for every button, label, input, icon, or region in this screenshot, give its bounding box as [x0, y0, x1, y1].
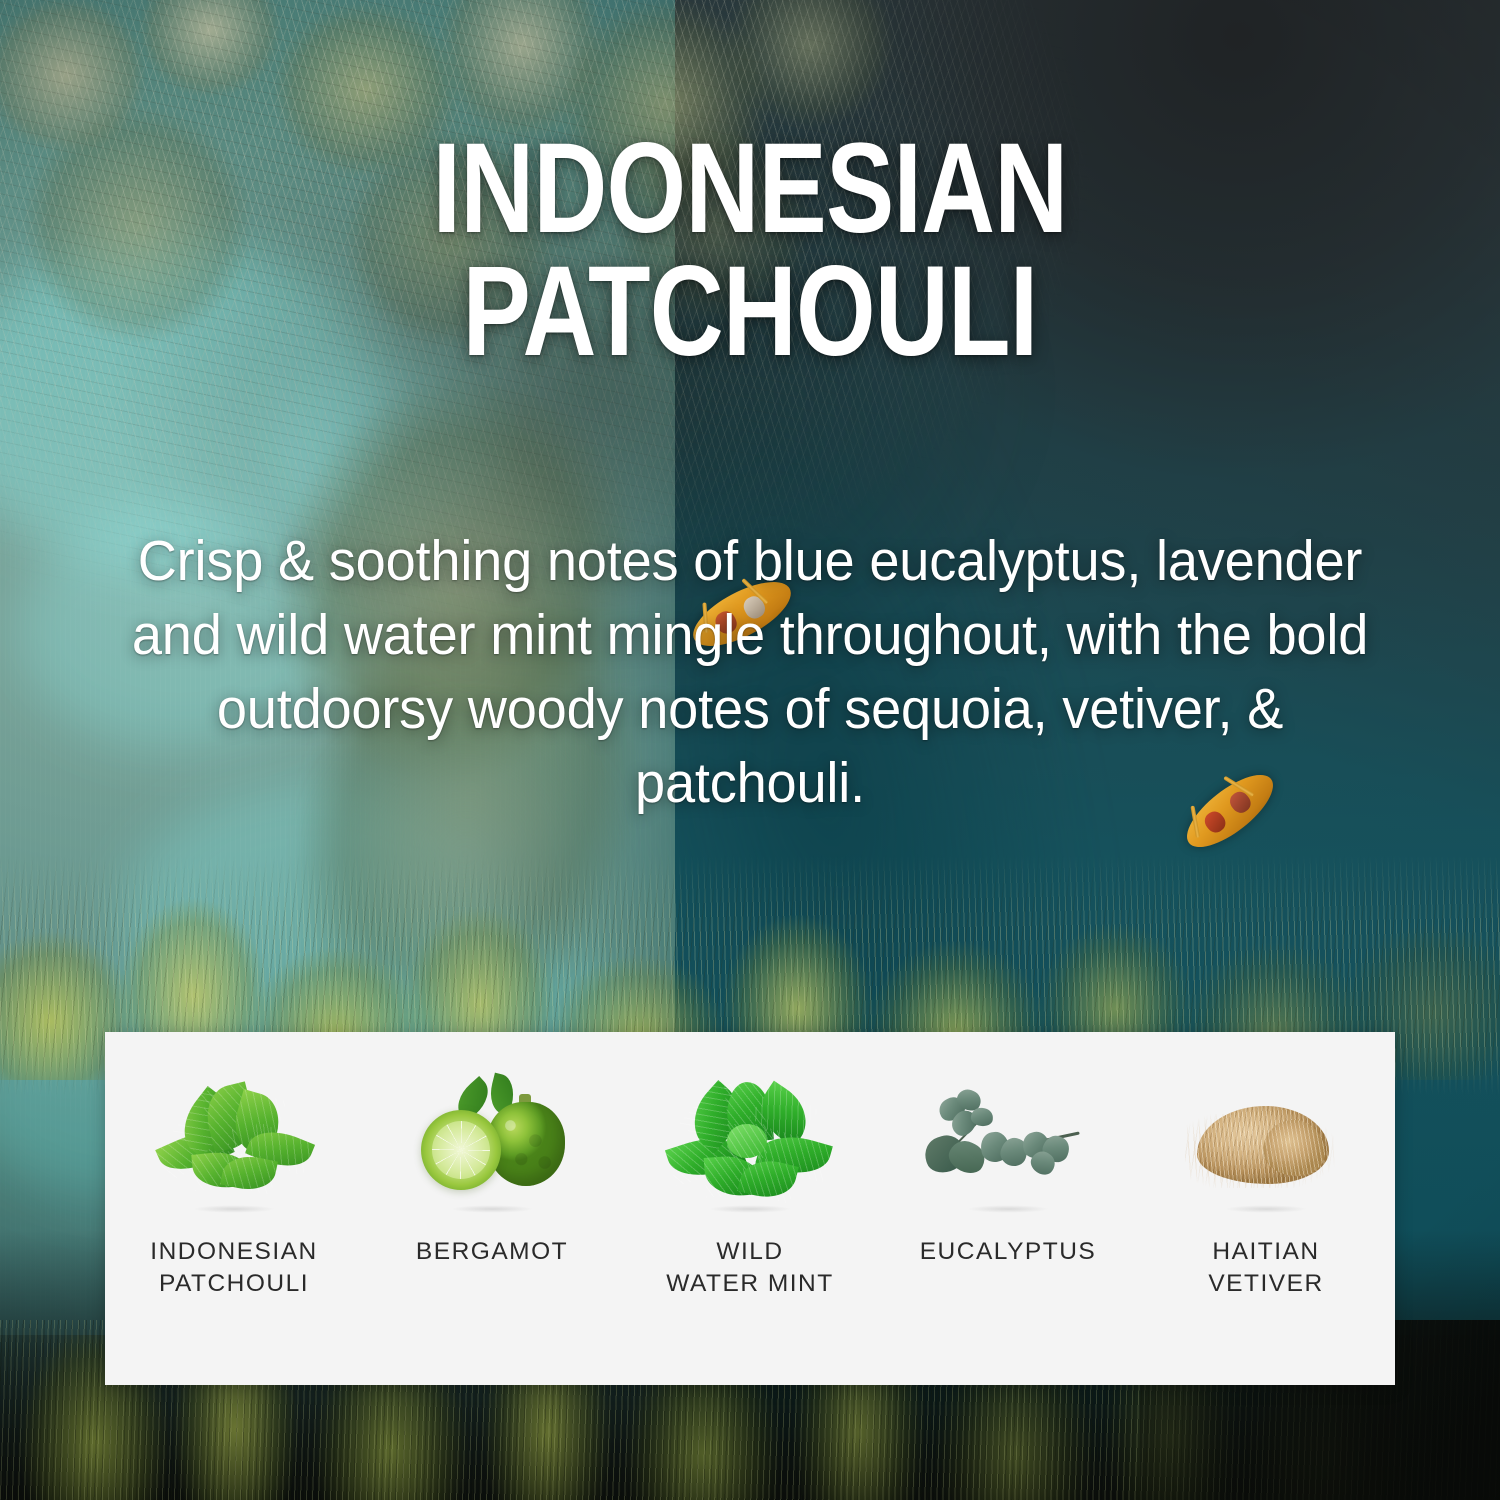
scent-description: Crisp & soothing notes of blue eucalyptu…	[129, 524, 1372, 820]
ingredient-item-eucalyptus: EUCALYPTUS	[879, 1032, 1137, 1385]
mint-leaves-icon	[665, 1080, 835, 1210]
ingredient-label: BERGAMOT	[416, 1236, 568, 1268]
ingredient-item-haitian-vetiver: HAITIAN VETIVER	[1137, 1032, 1395, 1385]
ingredient-label: HAITIAN VETIVER	[1208, 1236, 1323, 1300]
page-title: INDONESIAN PATCHOULI	[150, 128, 1350, 374]
ingredient-item-patchouli: INDONESIAN PATCHOULI	[105, 1032, 363, 1385]
ingredient-item-wild-water-mint: WILD WATER MINT	[621, 1032, 879, 1385]
vetiver-roots-icon	[1181, 1080, 1351, 1210]
bergamot-citrus-icon	[407, 1080, 577, 1210]
ingredient-label: WILD WATER MINT	[666, 1236, 833, 1300]
product-scent-card: INDONESIAN PATCHOULI Crisp & soothing no…	[0, 0, 1500, 1500]
ingredient-label: EUCALYPTUS	[920, 1236, 1097, 1268]
ingredient-notes-panel: INDONESIAN PATCHOULI BERGAMOT WILD WATER…	[105, 1032, 1395, 1385]
ingredient-label: INDONESIAN PATCHOULI	[150, 1236, 317, 1300]
ingredient-item-bergamot: BERGAMOT	[363, 1032, 621, 1385]
eucalyptus-sprig-icon	[923, 1080, 1093, 1210]
patchouli-leaves-icon	[149, 1080, 319, 1210]
